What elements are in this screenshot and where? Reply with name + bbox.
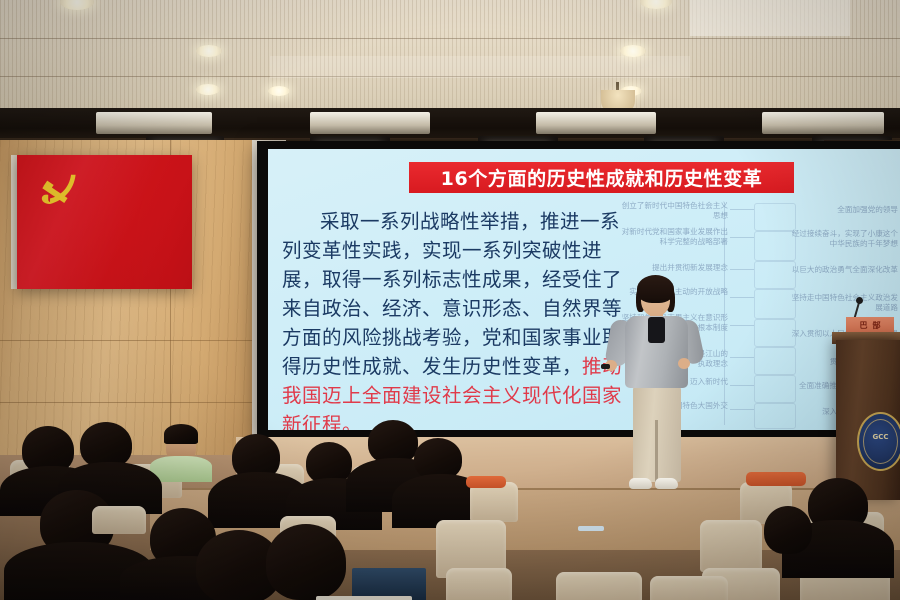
- ceiling-downlight: [268, 86, 290, 96]
- diagram-right-item: 以巨大的政治勇气全面深化改革: [790, 265, 898, 275]
- slide-body: 采取一系列战略性举措，推进一系列变革性实践，实现一系列突破性进展，取得一系列标志…: [282, 207, 630, 430]
- wall-seam: [0, 402, 252, 403]
- ceiling-downlight: [196, 84, 220, 95]
- diagram-connector: [730, 409, 754, 410]
- light-reflector: [762, 112, 884, 134]
- slide-title-text: 16个方面的历史性成就和历史性变革: [441, 164, 763, 191]
- light-reflector: [536, 112, 656, 134]
- slide-title-banner: 16个方面的历史性成就和历史性变革: [409, 162, 794, 193]
- diagram-left-item: 创立了新时代中国特色社会主义思想: [620, 201, 728, 221]
- diagram-connector: [730, 357, 754, 358]
- diagram-right-item: 经过接续奋斗，实现了小康这个中华民族的千年梦想: [790, 229, 898, 249]
- diagram-right-item: 全面加强党的领导: [790, 205, 898, 215]
- light-reflector: [310, 112, 430, 134]
- diagram-connector: [730, 385, 754, 386]
- ceiling-panel: [690, 0, 850, 36]
- diagram-connector: [730, 209, 754, 210]
- speaker-inner-top: [648, 317, 665, 343]
- stage-platform-face: [150, 490, 900, 550]
- wall-seam: [0, 340, 252, 341]
- speaker-shoe: [629, 478, 652, 489]
- speaker-clicker: [601, 364, 610, 369]
- slide-body-paragraph: 采取一系列战略性举措，推进一系列变革性实践，实现一系列突破性进展，取得一系列标志…: [282, 207, 630, 430]
- nameplate-char-left: 巴: [860, 320, 868, 331]
- diagram-connector: [730, 297, 754, 298]
- speaker-hair: [637, 275, 674, 303]
- ceiling-downlight: [196, 45, 222, 57]
- slide-body-text: 采取一系列战略性举措，推进一系列变革性实践，实现一系列突破性进展，取得一系列标志…: [282, 210, 622, 378]
- stage-platform-top: [236, 437, 900, 493]
- diagram-connector: [730, 237, 754, 238]
- projection-screen: 16个方面的历史性成就和历史性变革 采取一系列战略性举措，推进一系列变革性实践，…: [268, 149, 900, 430]
- seal-ring: [863, 419, 898, 464]
- speaker-right-hand: [678, 358, 690, 369]
- microphone-head: [856, 297, 863, 304]
- diagram-right-item: 坚持走中国特色社会主义政治发展道路: [790, 293, 898, 313]
- seal-monogram: GCC: [859, 433, 900, 441]
- lecture-hall-photo: 16个方面的历史性成就和历史性变革 采取一系列战略性举措，推进一系列变革性实践，…: [0, 0, 900, 600]
- diagram-connector: [730, 325, 754, 326]
- ceiling-downlight: [620, 45, 646, 57]
- ceiling-seam: [0, 38, 900, 39]
- nameplate-char-right: 郜: [873, 320, 881, 331]
- hammer-and-sickle-icon: [38, 172, 84, 214]
- college-seal: GCC: [857, 412, 900, 471]
- speaker-shoe: [655, 478, 678, 489]
- ceiling-panel: [270, 56, 690, 78]
- light-reflector: [96, 112, 212, 134]
- diagram-connector: [730, 269, 754, 270]
- diagram-left-item: 提出并贯彻新发展理念: [620, 263, 728, 273]
- presentation-clicker-on-floor: [578, 526, 604, 531]
- speaker-trouser-seam: [655, 420, 658, 482]
- diagram-left-item: 对新时代党和国家事业发展作出科学完整的战略部署: [620, 227, 728, 247]
